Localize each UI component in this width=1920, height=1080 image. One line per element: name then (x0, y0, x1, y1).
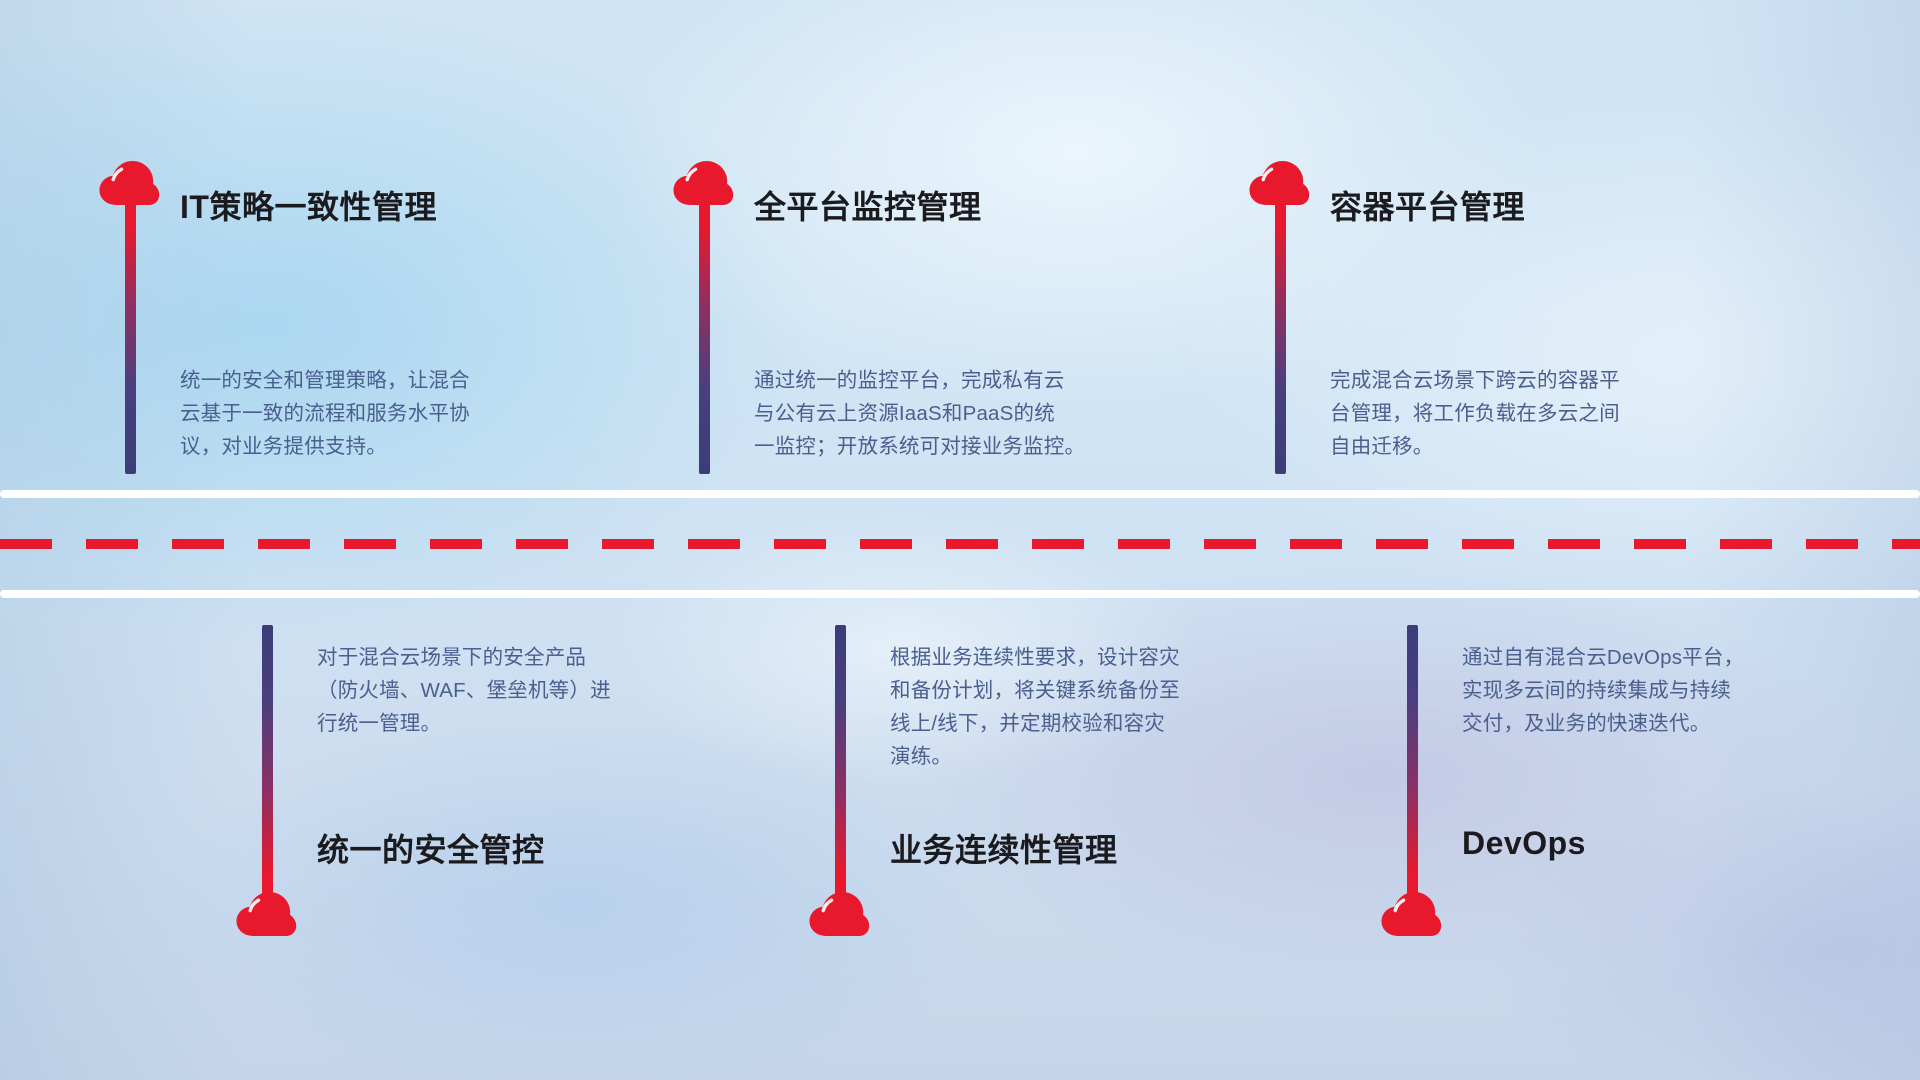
column-heading: DevOps (1462, 825, 1586, 862)
cloud-icon (98, 160, 160, 206)
cloud-icon (235, 891, 297, 937)
column-stem (1407, 625, 1418, 895)
divider-rule-bottom (0, 590, 1920, 598)
column-stem (1275, 204, 1286, 474)
column-body-text: 对于混合云场景下的安全产品 （防火墙、WAF、堡垒机等）进 行统一管理。 (317, 641, 747, 740)
infographic-canvas: IT策略一致性管理 统一的安全和管理策略，让混合 云基于一致的流程和服务水平协 … (0, 0, 1920, 1080)
column-heading: IT策略一致性管理 (180, 182, 437, 228)
dashed-separator (0, 539, 1920, 549)
column-body-text: 根据业务连续性要求，设计容灾 和备份计划，将关键系统备份至 线上/线下，并定期校… (890, 641, 1320, 773)
divider-rule-top (0, 490, 1920, 498)
column-heading: 全平台监控管理 (754, 182, 982, 228)
cloud-icon (1380, 891, 1442, 937)
divider-band (0, 490, 1920, 598)
cloud-icon (1248, 160, 1310, 206)
column-heading: 统一的安全管控 (317, 825, 545, 871)
column-heading: 容器平台管理 (1330, 182, 1525, 228)
column-heading: 业务连续性管理 (890, 825, 1118, 871)
column-body-text: 完成混合云场景下跨云的容器平 台管理，将工作负载在多云之间 自由迁移。 (1330, 364, 1770, 463)
cloud-icon (808, 891, 870, 937)
column-body-text: 统一的安全和管理策略，让混合 云基于一致的流程和服务水平协 议，对业务提供支持。 (180, 364, 620, 463)
cloud-icon (672, 160, 734, 206)
top-column-it-policy-consistency: IT策略一致性管理 统一的安全和管理策略，让混合 云基于一致的流程和服务水平协 … (118, 160, 548, 490)
column-stem (699, 204, 710, 474)
column-body-text: 通过统一的监控平台，完成私有云 与公有云上资源IaaS和PaaS的统 一监控；开… (754, 364, 1204, 463)
column-stem (262, 625, 273, 895)
top-column-container-platform-management: 容器平台管理 完成混合云场景下跨云的容器平 台管理，将工作负载在多云之间 自由迁… (1268, 160, 1698, 490)
dashed-separator-track (0, 539, 1920, 549)
bottom-column-devops: 通过自有混合云DevOps平台， 实现多云间的持续集成与持续 交付，及业务的快速… (1400, 625, 1830, 955)
column-stem (835, 625, 846, 895)
column-stem (125, 204, 136, 474)
column-body-text: 通过自有混合云DevOps平台， 实现多云间的持续集成与持续 交付，及业务的快速… (1462, 641, 1892, 740)
bottom-column-business-continuity-management: 根据业务连续性要求，设计容灾 和备份计划，将关键系统备份至 线上/线下，并定期校… (828, 625, 1258, 955)
top-column-full-platform-monitoring: 全平台监控管理 通过统一的监控平台，完成私有云 与公有云上资源IaaS和PaaS… (692, 160, 1122, 490)
bottom-column-unified-security-control: 对于混合云场景下的安全产品 （防火墙、WAF、堡垒机等）进 行统一管理。 统一的… (255, 625, 685, 955)
